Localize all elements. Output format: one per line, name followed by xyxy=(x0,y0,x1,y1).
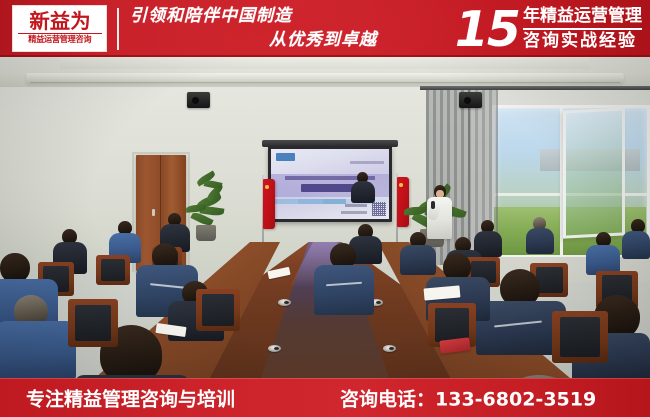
banner-footer: 专注精益管理咨询与培训 咨询电话：133-6802-3519 xyxy=(0,378,650,417)
chair-cushion xyxy=(101,259,125,281)
banner-header: 新益为 精益运营管理咨询 引领和陪伴中国制造 从优秀到卓越 15 年精益运营管理… xyxy=(0,0,650,57)
chair-cushion xyxy=(560,317,600,357)
chair-cushion xyxy=(75,305,111,341)
logo-divider-rule xyxy=(18,33,102,34)
logo-tagline: 精益运营管理咨询 xyxy=(28,35,91,45)
slogan-line-2: 从优秀到卓越 xyxy=(128,28,383,52)
years-text-block: 年精益运营管理 咨询实战经验 xyxy=(523,5,642,53)
slogan-line-1: 引领和陪伴中国制造 xyxy=(128,4,383,28)
chair-cushion xyxy=(536,267,563,293)
door-handle xyxy=(152,209,155,216)
chinese-flag-right xyxy=(397,177,409,227)
years-line-1: 年精益运营管理 xyxy=(523,5,642,28)
footer-contact[interactable]: 咨询电话：133-6802-3519 xyxy=(340,384,596,411)
slide-logo-icon xyxy=(276,153,295,161)
qr-code-icon xyxy=(372,202,386,216)
ceiling-speaker-right-icon xyxy=(459,92,482,108)
chinese-flag-left xyxy=(263,179,275,229)
ceiling-recess-inner xyxy=(60,57,590,69)
ceiling-speaker-left-icon xyxy=(187,92,210,108)
ceiling-shadow-line xyxy=(30,82,620,83)
header-divider xyxy=(117,8,119,50)
training-photo xyxy=(0,57,650,378)
curtain-rod xyxy=(420,86,650,90)
chair-cushion xyxy=(202,294,234,326)
microphone-icon xyxy=(431,201,435,209)
slide-footer-line-2 xyxy=(341,211,367,214)
slide-header-text xyxy=(350,161,384,164)
years-number: 15 xyxy=(455,5,519,54)
years-badge: 15 年精益运营管理 咨询实战经验 xyxy=(455,1,642,56)
cable-grommet xyxy=(268,345,281,352)
company-logo[interactable]: 新益为 精益运营管理咨询 xyxy=(12,5,107,52)
cable-grommet xyxy=(383,345,396,352)
banner-root: 新益为 精益运营管理咨询 引领和陪伴中国制造 从优秀到卓越 15 年精益运营管理… xyxy=(0,0,650,417)
logo-company-name: 新益为 xyxy=(29,11,90,32)
header-slogan: 引领和陪伴中国制造 从优秀到卓越 xyxy=(128,4,383,54)
cable-grommet xyxy=(278,299,291,306)
open-window-sash xyxy=(563,107,625,238)
footer-tagline: 专注精益管理咨询与培训 xyxy=(26,384,235,411)
slide-footer-line-1 xyxy=(345,204,367,207)
projection-screen xyxy=(268,146,392,222)
years-line-2: 咨询实战经验 xyxy=(523,30,642,53)
